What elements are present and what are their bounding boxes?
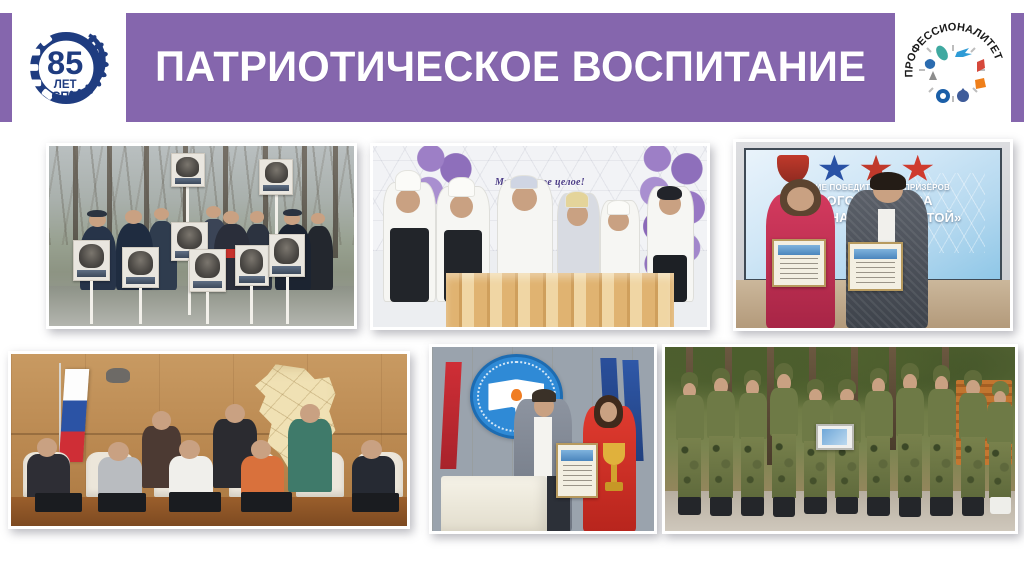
slide-root: 85 ЛЕТ СПО ПАТРИОТИЧЕСКОЕ ВОСПИТАНИЕ (0, 0, 1024, 576)
photo-assembly-hall: Студенты в зале заседаний с флагом Росси… (8, 351, 410, 529)
award-plaque (816, 424, 855, 450)
logo-box-left: 85 ЛЕТ СПО (12, 13, 126, 122)
logo-85-number: 85 (47, 43, 83, 80)
photo-award-ceremony: …ЕНИЕ ПОБЕДИТЕЛЕЙ И ПРИЗЁРОВ …ОГО КОНКУР… (733, 139, 1013, 331)
photo-cadets-camp: Отряд курсантов в камуфляжной форме с на… (662, 344, 1018, 534)
camera-icon (106, 368, 130, 383)
logo-box-right: ПРОФЕССИОНАЛИТЕТ (895, 13, 1011, 122)
star-blue-icon (818, 155, 850, 184)
photo-grid: Участие студентов в акции «Бессмертный п… (0, 122, 1024, 576)
85-let-spo-logo: 85 ЛЕТ СПО (21, 20, 117, 116)
logo-spo-text: СПО (51, 89, 79, 103)
photo-immortal-regiment: Участие студентов в акции «Бессмертный п… (46, 143, 357, 329)
photo-culinary-team: Мы - единое целое! (370, 143, 710, 330)
header-banner: 85 ЛЕТ СПО ПАТРИОТИЧЕСКОЕ ВОСПИТАНИЕ (0, 13, 1024, 122)
photo-kgbu-dpo-award: Вручение диплома и кубка в кабинете с эм… (429, 344, 657, 534)
professionalitet-logo: ПРОФЕССИОНАЛИТЕТ (901, 18, 1005, 118)
star-gold-icon (902, 155, 934, 184)
page-title: ПАТРИОТИЧЕСКОЕ ВОСПИТАНИЕ (155, 43, 866, 92)
title-zone: ПАТРИОТИЧЕСКОЕ ВОСПИТАНИЕ (126, 13, 895, 122)
